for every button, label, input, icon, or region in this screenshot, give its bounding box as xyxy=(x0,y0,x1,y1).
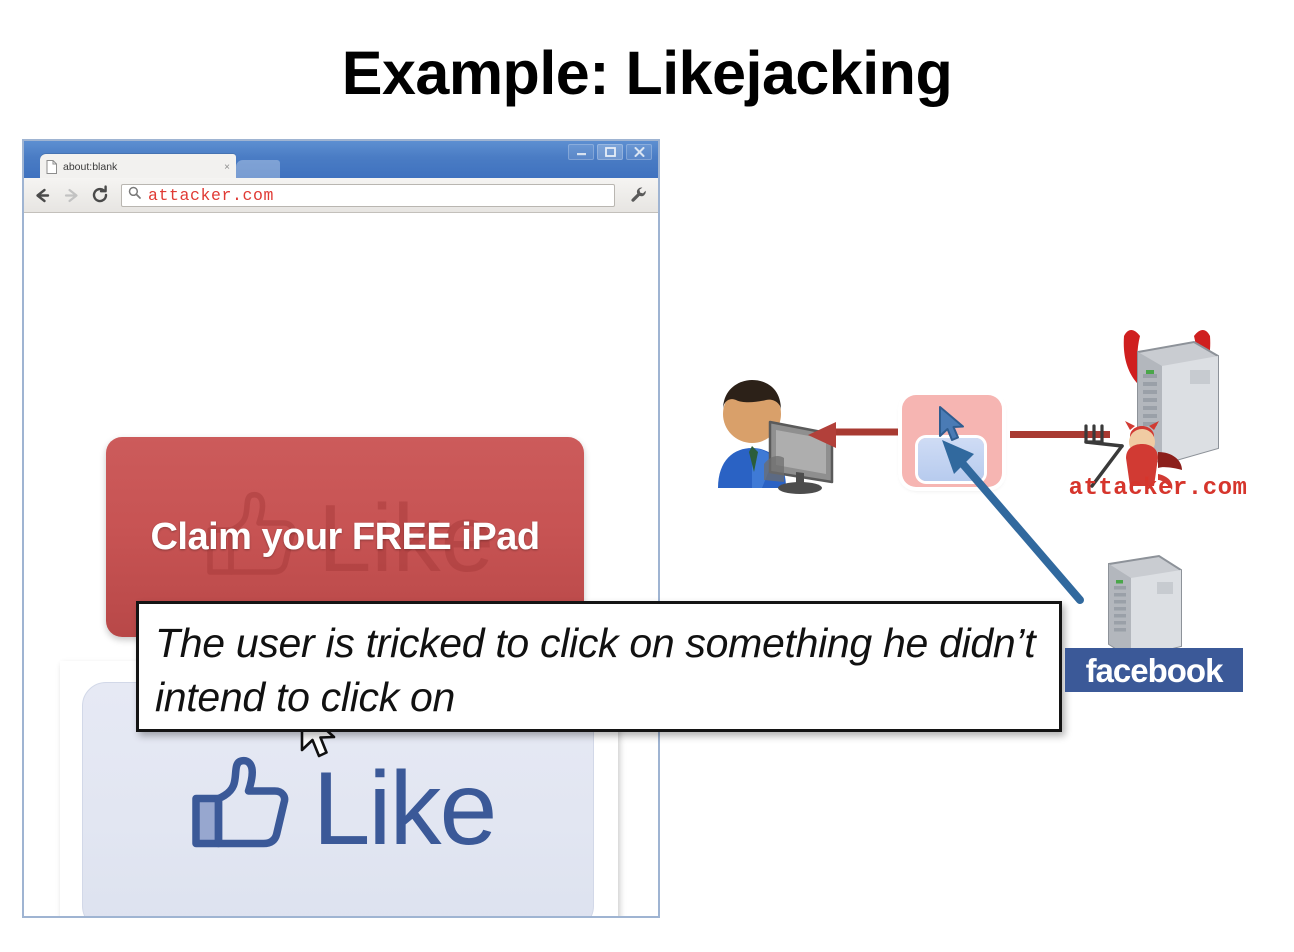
window-controls xyxy=(568,144,652,160)
attack-flow-diagram: attacker.com facebook xyxy=(680,300,1280,740)
close-button[interactable] xyxy=(626,144,652,160)
browser-tab[interactable]: about:blank × xyxy=(40,154,236,178)
address-bar-url: attacker.com xyxy=(148,186,274,205)
browser-toolbar: attacker.com xyxy=(24,178,658,213)
back-arrow-icon[interactable] xyxy=(32,185,52,205)
browser-titlebar: about:blank × xyxy=(24,141,658,178)
maximize-button[interactable] xyxy=(597,144,623,160)
forward-arrow-icon[interactable] xyxy=(61,185,81,205)
browser-window: about:blank × xyxy=(22,139,660,918)
tab-close-icon[interactable]: × xyxy=(224,162,230,173)
reload-icon[interactable] xyxy=(90,185,110,205)
facebook-logo-text: facebook xyxy=(1086,654,1223,687)
page-icon xyxy=(46,160,57,174)
left-arrow-icon xyxy=(808,422,903,448)
address-bar[interactable]: attacker.com xyxy=(121,184,615,207)
facebook-logo-badge: facebook xyxy=(1065,648,1243,692)
magnifier-icon xyxy=(128,186,141,204)
new-tab-button[interactable] xyxy=(236,160,280,178)
page-title: Example: Likejacking xyxy=(0,38,1294,108)
diagonal-arrow-icon xyxy=(920,430,1120,610)
thumbs-up-icon xyxy=(181,746,301,866)
facebook-like-label: Like xyxy=(313,757,496,861)
wrench-icon[interactable] xyxy=(628,184,650,206)
browser-viewport: Like Claim your FREE iPad Like xyxy=(24,213,658,916)
minimize-button[interactable] xyxy=(568,144,594,160)
browser-tab-title: about:blank xyxy=(63,161,220,173)
